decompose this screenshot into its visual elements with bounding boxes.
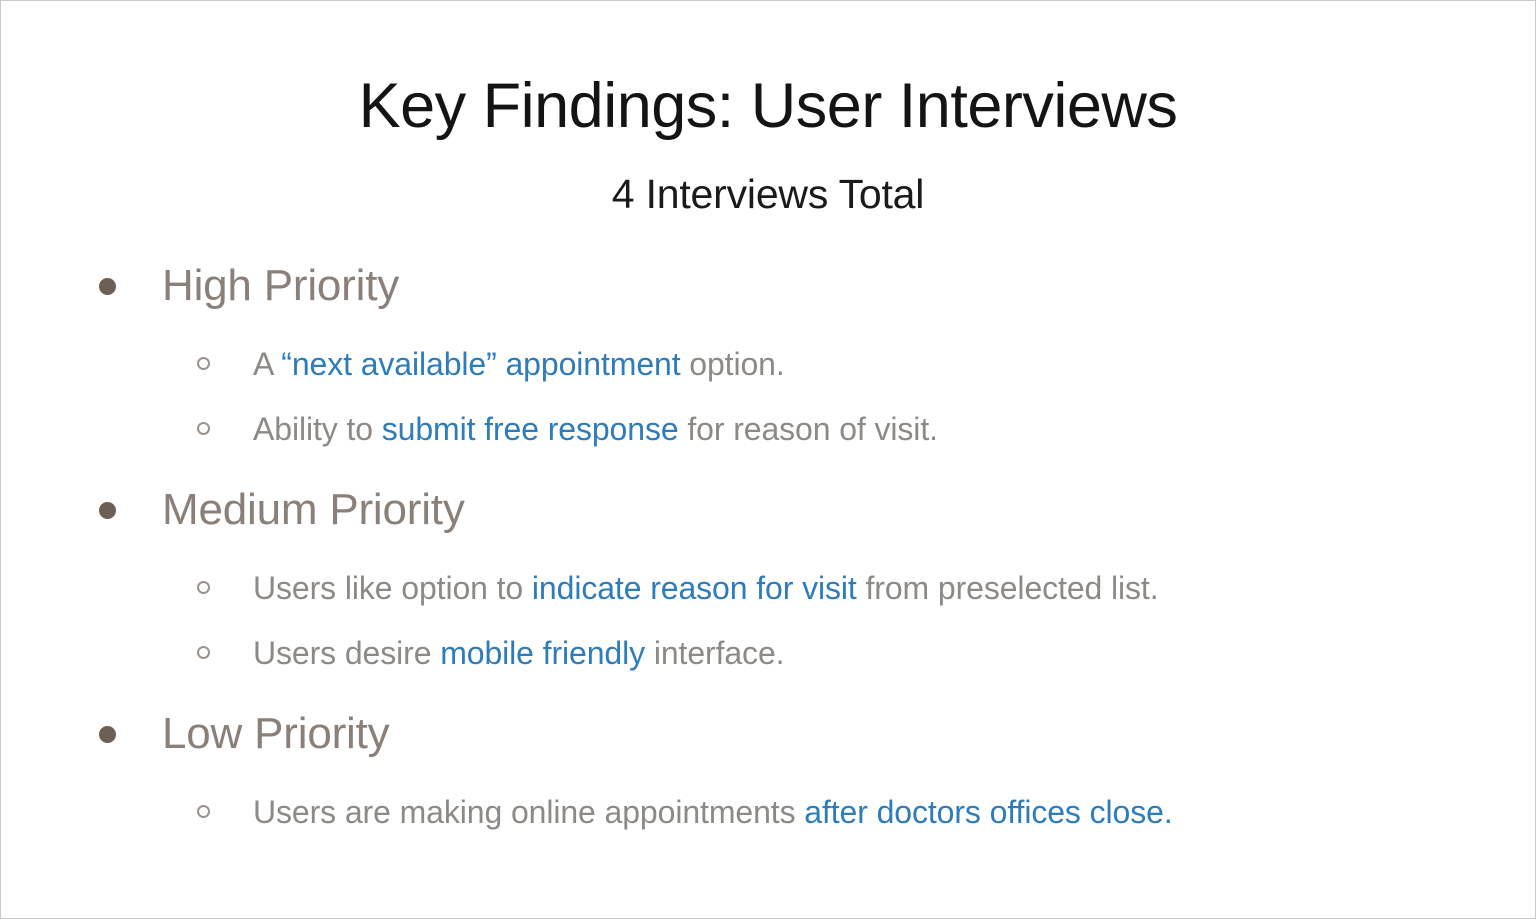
priority-group: Medium PriorityUsers like option to indi… (1, 479, 1535, 685)
finding-text: A “next available” appointment option. (253, 348, 785, 380)
priority-group: High PriorityA “next available” appointm… (1, 255, 1535, 461)
finding-text: Ability to submit free response for reas… (253, 413, 938, 445)
presentation-slide: Key Findings: User Interviews 4 Intervie… (0, 0, 1536, 919)
finding-sublist: Users are making online appointments aft… (1, 779, 1535, 844)
finding-text: Users desire mobile friendly interface. (253, 637, 784, 669)
priority-group-label: Low Priority (162, 712, 389, 756)
plain-phrase: Users are making online appointments (253, 794, 804, 830)
highlighted-phrase: submit free response (382, 411, 679, 447)
finding-sublist: A “next available” appointment option.Ab… (1, 331, 1535, 461)
plain-phrase: from preselected list. (857, 570, 1159, 606)
plain-phrase: for reason of visit. (679, 411, 938, 447)
priority-group: Low PriorityUsers are making online appo… (1, 703, 1535, 844)
plain-phrase: A (253, 346, 281, 382)
hollow-bullet-icon (197, 422, 210, 435)
filled-bullet-icon (99, 502, 116, 519)
list-item: A “next available” appointment option. (1, 331, 1535, 396)
plain-phrase: option. (681, 346, 785, 382)
priority-group-header: High Priority (1, 255, 1535, 317)
list-item: Ability to submit free response for reas… (1, 396, 1535, 461)
list-item: Users desire mobile friendly interface. (1, 620, 1535, 685)
hollow-bullet-icon (197, 357, 210, 370)
highlighted-phrase: indicate reason for visit (532, 570, 857, 606)
finding-text: Users are making online appointments aft… (253, 796, 1173, 828)
highlighted-phrase: mobile friendly (440, 635, 645, 671)
hollow-bullet-icon (197, 646, 210, 659)
priority-group-header: Low Priority (1, 703, 1535, 765)
highlighted-phrase: “next available” appointment (281, 346, 680, 382)
priority-group-header: Medium Priority (1, 479, 1535, 541)
filled-bullet-icon (99, 278, 116, 295)
hollow-bullet-icon (197, 805, 210, 818)
priority-group-label: High Priority (162, 264, 399, 308)
page-subtitle: 4 Interviews Total (1, 138, 1535, 215)
list-item: Users like option to indicate reason for… (1, 555, 1535, 620)
hollow-bullet-icon (197, 581, 210, 594)
priority-group-label: Medium Priority (162, 488, 465, 532)
filled-bullet-icon (99, 726, 116, 743)
page-title: Key Findings: User Interviews (1, 75, 1535, 138)
finding-sublist: Users like option to indicate reason for… (1, 555, 1535, 685)
plain-phrase: interface. (645, 635, 784, 671)
finding-text: Users like option to indicate reason for… (253, 572, 1159, 604)
list-item: Users are making online appointments aft… (1, 779, 1535, 844)
findings-list: High PriorityA “next available” appointm… (1, 215, 1535, 844)
plain-phrase: Ability to (253, 411, 382, 447)
plain-phrase: Users desire (253, 635, 440, 671)
highlighted-phrase: after doctors offices close. (804, 794, 1172, 830)
title-block: Key Findings: User Interviews 4 Intervie… (1, 1, 1535, 215)
plain-phrase: Users like option to (253, 570, 532, 606)
